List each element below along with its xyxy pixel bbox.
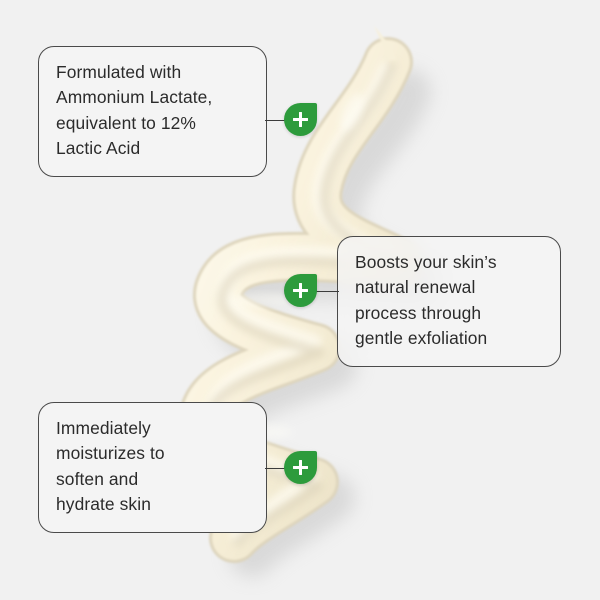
callout-box-moisture: Immediately moisturizes to soften and hy…	[38, 402, 267, 533]
callout-box-formulation: Formulated with Ammonium Lactate, equiva…	[38, 46, 267, 177]
plus-badge-1[interactable]	[284, 103, 317, 136]
plus-icon	[293, 283, 308, 298]
plus-badge-2[interactable]	[284, 274, 317, 307]
infographic-stage: Formulated with Ammonium Lactate, equiva…	[0, 0, 600, 600]
plus-badge-3[interactable]	[284, 451, 317, 484]
plus-icon	[293, 112, 308, 127]
plus-icon	[293, 460, 308, 475]
callout-box-renewal: Boosts your skin’s natural renewal proce…	[337, 236, 561, 367]
